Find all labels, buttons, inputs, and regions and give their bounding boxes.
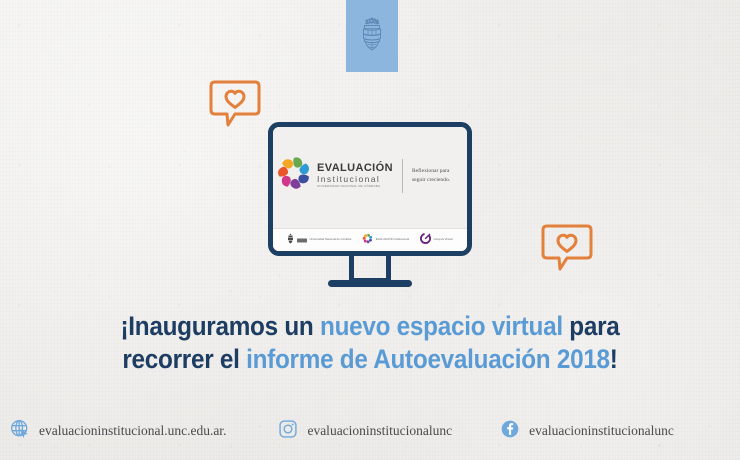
monitor-neck <box>349 255 391 283</box>
partner-label: Campus Virtual <box>433 238 452 242</box>
evaluacion-small-logo-icon <box>362 231 373 249</box>
unc-crest-icon <box>287 231 294 249</box>
headline-seg: recorrer el <box>122 344 246 374</box>
monitor-base <box>328 280 412 287</box>
monitor-illustration: EVALUACIÓN Institucional UNIVERSIDAD NAC… <box>268 122 472 290</box>
footer-social-bar: evaluacioninstitucional.unc.edu.ar. eval… <box>0 408 740 454</box>
footer-link-facebook[interactable]: evaluacioninstitucionalunc <box>500 419 674 443</box>
brand-divider <box>402 159 403 193</box>
top-banner <box>346 0 398 72</box>
evaluacion-institucional-starburst-logo <box>276 155 312 196</box>
unc-coat-of-arms-icon <box>357 15 387 58</box>
globe-cursor-icon <box>10 419 30 443</box>
footer-link-label: evaluacioninstitucionalunc <box>307 423 452 439</box>
headline-seg-highlight: nuevo espacio virtual <box>320 311 563 341</box>
headline-line-2: recorrer el informe de Autoevaluación 20… <box>37 343 703 376</box>
headline-seg: para <box>563 311 620 341</box>
footer-link-instagram[interactable]: evaluacioninstitucionalunc <box>278 419 452 443</box>
partner-label: EVALUACIÓN Institucional <box>376 238 409 242</box>
partner-logo-unc: Universidad Nacional de Córdoba <box>287 231 351 249</box>
headline-seg-highlight: informe de Autoevaluación 2018 <box>246 344 610 374</box>
headline-line-1: ¡Inauguramos un nuevo espacio virtual pa… <box>37 310 703 343</box>
partner-logo-eval: EVALUACIÓN Institucional <box>362 231 409 249</box>
partner-logo-campus: Campus Virtual <box>420 231 453 249</box>
screen-hero: EVALUACIÓN Institucional UNIVERSIDAD NAC… <box>273 127 467 228</box>
heart-speech-bubble-icon-left <box>206 78 264 130</box>
brand-institution: UNIVERSIDAD NACIONAL DE CÓRDOBA <box>317 185 393 188</box>
screen-partner-bar: Universidad Nacional de Córdoba <box>273 228 467 251</box>
brand-wordmark: EVALUACIÓN Institucional UNIVERSIDAD NAC… <box>317 163 393 187</box>
heart-speech-bubble-icon-right <box>538 222 596 274</box>
monitor-screen-content: EVALUACIÓN Institucional UNIVERSIDAD NAC… <box>273 127 467 251</box>
footer-link-label: evaluacioninstitucionalunc <box>529 423 674 439</box>
instagram-icon <box>278 419 298 443</box>
page-title: ¡Inauguramos un nuevo espacio virtual pa… <box>37 310 703 376</box>
monitor-frame: EVALUACIÓN Institucional UNIVERSIDAD NAC… <box>268 122 472 256</box>
footer-link-website[interactable]: evaluacioninstitucional.unc.edu.ar. <box>10 419 226 443</box>
partner-label: Universidad Nacional de Córdoba <box>309 238 351 242</box>
brand-lockup: EVALUACIÓN Institucional UNIVERSIDAD NAC… <box>276 155 393 196</box>
brand-subtitle: Institucional <box>317 175 393 184</box>
unc-crest-mark <box>297 231 307 249</box>
headline-seg: ¡Inauguramos un <box>120 311 320 341</box>
brand-title: EVALUACIÓN <box>317 163 393 174</box>
headline-seg: ! <box>610 344 618 374</box>
screen-tagline: Reflexionar para seguir creciendo. <box>412 167 464 184</box>
campus-virtual-icon <box>420 231 431 249</box>
facebook-icon <box>500 419 520 443</box>
footer-link-label: evaluacioninstitucional.unc.edu.ar. <box>39 423 226 439</box>
